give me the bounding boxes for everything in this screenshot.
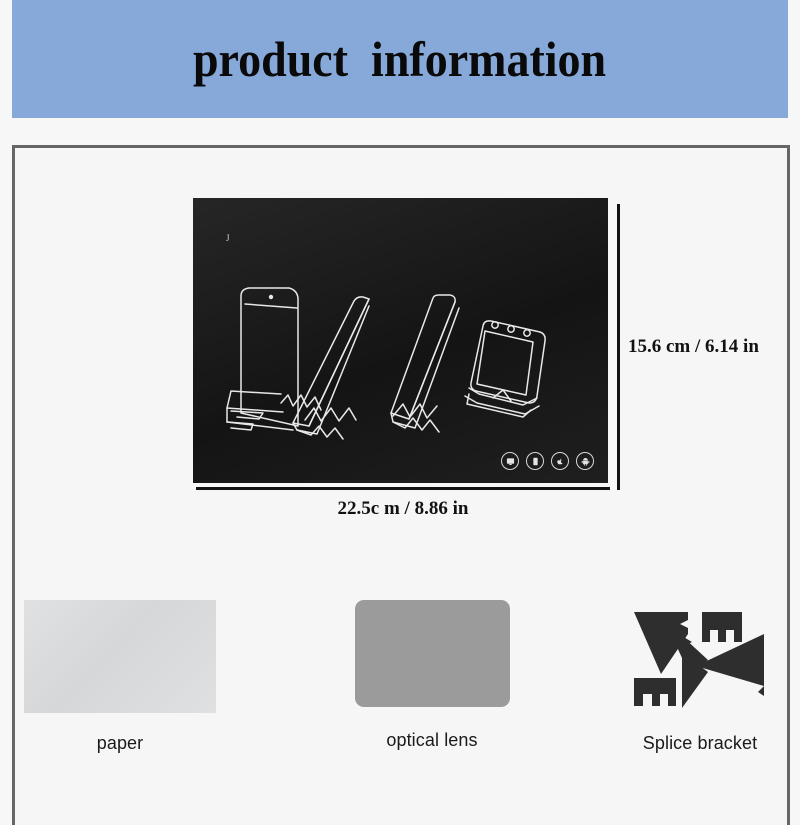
component-label: Splice bracket xyxy=(620,733,780,754)
tablet-icon xyxy=(526,452,544,470)
component-item-splice-bracket: Splice bracket xyxy=(620,600,780,754)
paper-swatch xyxy=(24,600,216,713)
component-item-paper: paper xyxy=(20,600,220,754)
component-label: optical lens xyxy=(347,730,517,751)
component-row: paper optical lens xyxy=(12,600,790,770)
height-dimension-line xyxy=(617,204,620,490)
optical-lens-swatch xyxy=(355,600,510,707)
stand-line-art xyxy=(193,198,608,483)
hero-photo-background: J xyxy=(193,198,608,483)
compatibility-icon-row xyxy=(501,452,594,470)
page-title: product information xyxy=(193,34,606,84)
component-label: paper xyxy=(20,733,220,754)
component-item-optical-lens: optical lens xyxy=(347,600,517,751)
height-dimension-label: 15.6 cm / 6.14 in xyxy=(628,336,759,358)
monitor-icon xyxy=(501,452,519,470)
android-icon xyxy=(576,452,594,470)
apple-icon xyxy=(551,452,569,470)
splice-bracket-swatch xyxy=(630,600,770,718)
header-banner: product information xyxy=(12,0,788,118)
hero-product-image: J xyxy=(193,198,608,483)
width-dimension-line xyxy=(196,487,610,490)
width-dimension-label: 22.5c m / 8.86 in xyxy=(196,498,610,520)
